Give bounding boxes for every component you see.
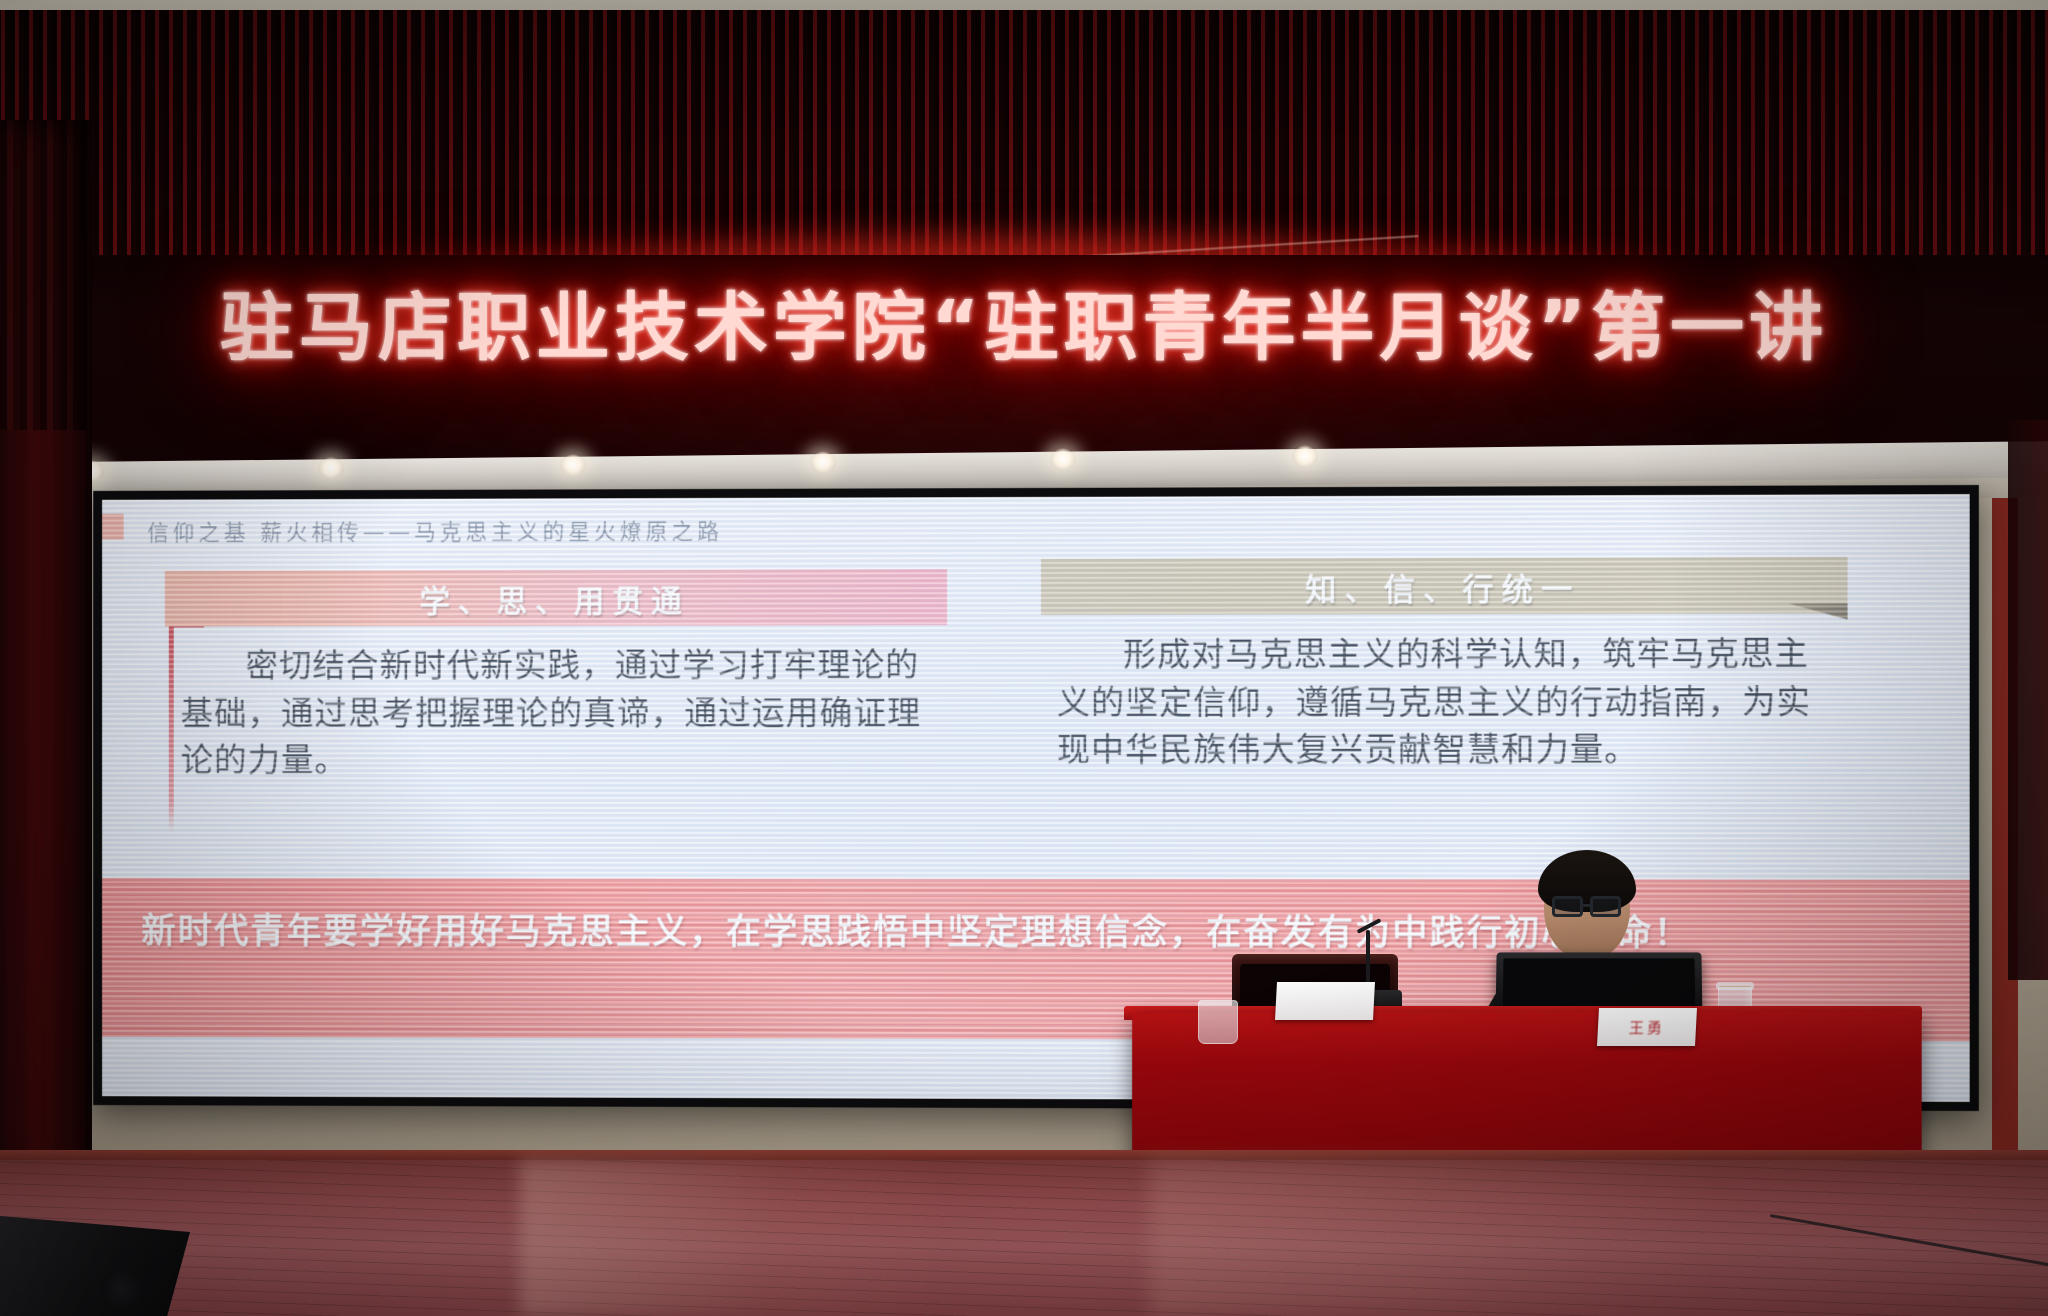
downlight-3 xyxy=(560,454,586,476)
venue-photo: 驻马店职业技术学院“驻职青年半月谈”第一讲 信仰之基 薪火相传——马克思主义的星… xyxy=(0,0,2048,1316)
nameplate-speaker-text: 王勇 xyxy=(1597,1008,1697,1046)
nameplate-speaker: 王勇 xyxy=(1597,1008,1697,1046)
left-card-bracket xyxy=(169,625,174,833)
downlight-4 xyxy=(810,451,836,473)
floor-light-reflection-1 xyxy=(520,1160,940,1316)
right-card-title: 知、信、行统一 xyxy=(1041,557,1848,615)
left-card-body: 密切结合新时代新实践，通过学习打牢理论的基础，通过思考把握理论的真谛，通过运用确… xyxy=(165,625,947,784)
speaker-cone-icon xyxy=(100,1268,142,1310)
slide-card-right: 知、信、行统一 形成对马克思主义的科学认知，筑牢马克思主义的坚定信仰，遵循马克思… xyxy=(1041,557,1848,860)
slide-header-accent-bar xyxy=(102,514,124,540)
slide-header: 信仰之基 薪火相传——马克思主义的星火燎原之路 xyxy=(102,502,1970,547)
stage-curtain-left-fold xyxy=(0,430,86,1170)
led-banner-text: 驻马店职业技术学院“驻职青年半月谈”第一讲 xyxy=(0,268,2048,375)
stage-floor xyxy=(0,1160,2048,1316)
stage-curtain-right xyxy=(2008,420,2048,980)
right-card-body: 形成对马克思主义的科学认知，筑牢马克思主义的坚定信仰，遵循马克思主义的行动指南，… xyxy=(1041,613,1848,773)
speaker-glasses-right-lens xyxy=(1590,896,1621,917)
downlight-6 xyxy=(1292,445,1318,467)
slide-card-left: 学、思、用贯通 密切结合新时代新实践，通过学习打牢理论的基础，通过思考把握理论的… xyxy=(165,569,947,844)
downlight-2 xyxy=(318,457,344,479)
floor-light-reflection-2 xyxy=(1150,1160,1710,1316)
paper-cup xyxy=(1198,1000,1238,1044)
stage-monitor-speaker xyxy=(0,1216,190,1316)
speaker-glasses-left-lens xyxy=(1552,896,1583,917)
speaker-glasses-bridge xyxy=(1583,904,1591,907)
left-card-title: 学、思、用贯通 xyxy=(165,569,947,626)
downlight-5 xyxy=(1050,448,1076,470)
slide-header-text: 信仰之基 薪火相传——马克思主义的星火燎原之路 xyxy=(147,514,723,547)
nameplate-blank xyxy=(1275,982,1375,1020)
